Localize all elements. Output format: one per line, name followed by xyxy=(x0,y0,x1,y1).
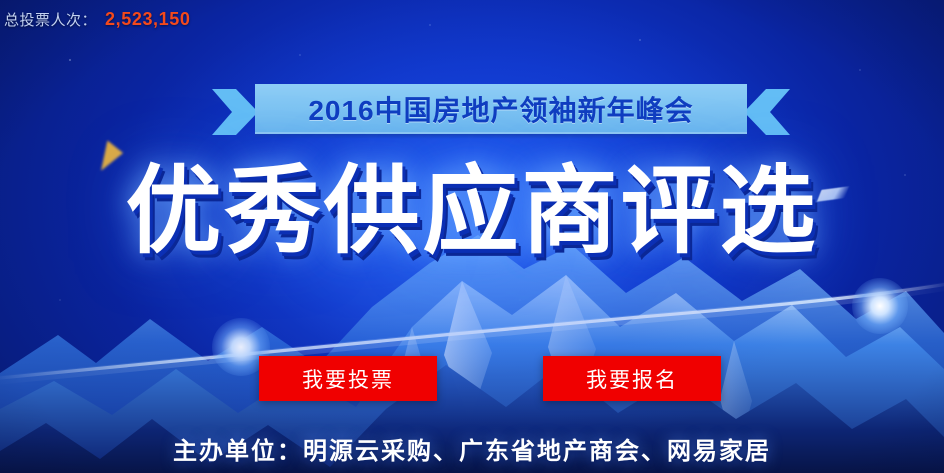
vote-button[interactable]: 我要投票 xyxy=(259,356,437,401)
ribbon-tail-right-icon xyxy=(744,87,790,137)
register-button[interactable]: 我要报名 xyxy=(543,356,721,401)
promo-banner: 总投票人次： 2,523,150 2016中国房地产领袖新年峰会 优秀供应商评选… xyxy=(0,0,944,473)
organizer-credits: 主办单位：明源云采购、广东省地产商会、网易家居 xyxy=(0,431,944,466)
ribbon-tail-left-icon xyxy=(212,87,258,137)
event-title: 2016中国房地产领袖新年峰会 xyxy=(255,84,747,134)
ribbon-panel-shadow xyxy=(255,134,747,139)
vote-counter-value: 2,523,150 xyxy=(105,9,190,30)
vote-counter-label: 总投票人次： xyxy=(4,9,97,30)
ribbon-banner: 2016中国房地产领袖新年峰会 xyxy=(212,84,790,140)
page-title: 优秀供应商评选 xyxy=(0,164,944,260)
cta-button-row: 我要投票 我要报名 xyxy=(259,356,721,401)
vote-counter: 总投票人次： 2,523,150 xyxy=(4,9,191,30)
